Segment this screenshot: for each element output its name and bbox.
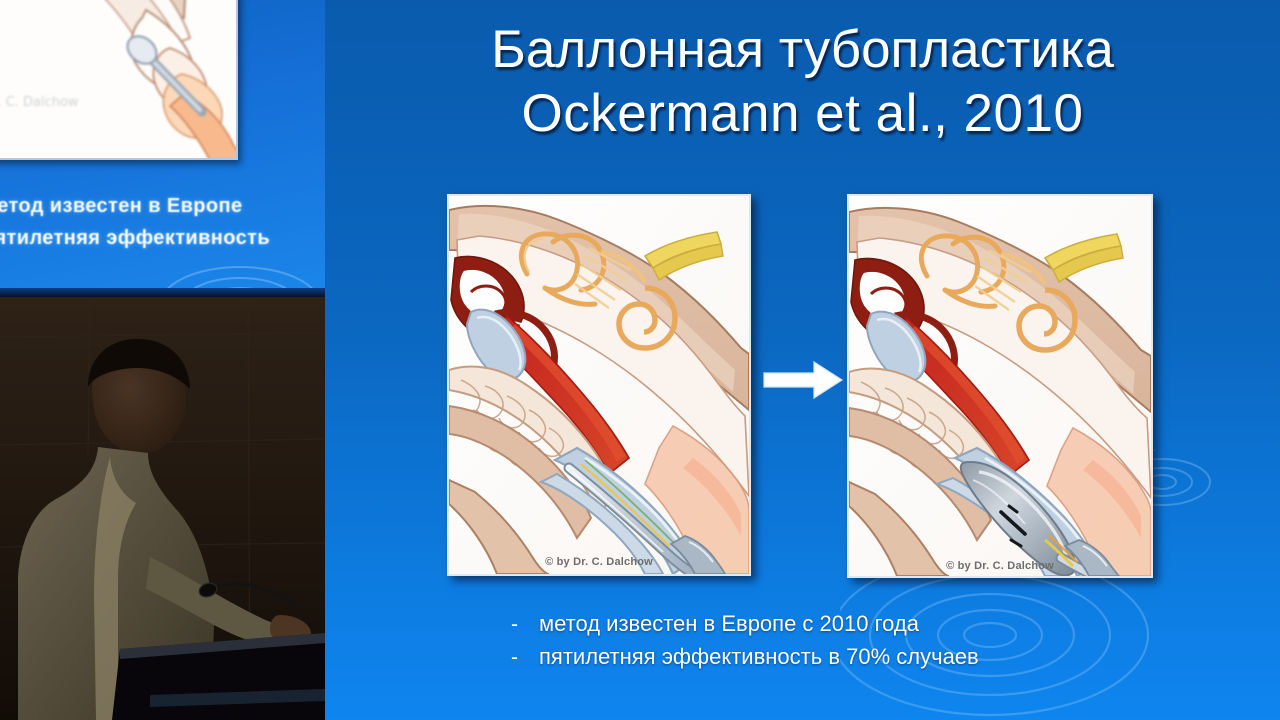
projected-ear-diagram-icon: © by Dr. C. Dalchow bbox=[0, 0, 238, 160]
bullet-dash: - bbox=[511, 642, 539, 674]
projected-figure: © by Dr. C. Dalchow bbox=[0, 0, 238, 160]
slide-canvas: Баллонная тубопластика Ockermann et al.,… bbox=[325, 0, 1280, 720]
title-line-2: Ockermann et al., 2010 bbox=[325, 82, 1280, 146]
projection-screen: © by Dr. C. Dalchow метод известен в Евр… bbox=[0, 0, 325, 297]
bullet-item: - метод известен в Европе с 2010 года bbox=[325, 608, 1280, 641]
presentation-screenshot: © by Dr. C. Dalchow метод известен в Евр… bbox=[0, 0, 1280, 720]
figure-before: © by Dr. C. Dalchow bbox=[447, 194, 751, 576]
figure-before-canvas: © by Dr. C. Dalchow bbox=[449, 196, 749, 574]
figure-group: © by Dr. C. Dalchow bbox=[325, 194, 1280, 578]
figure-after-credit: © by Dr. C. Dalchow bbox=[849, 560, 1151, 572]
right-arrow-icon bbox=[762, 360, 844, 400]
figure-after: © by Dr. C. Dalchow bbox=[847, 194, 1153, 578]
speaker-at-podium-icon bbox=[0, 297, 325, 720]
figure-after-canvas: © by Dr. C. Dalchow bbox=[849, 196, 1151, 576]
conference-video-feed: © by Dr. C. Dalchow метод известен в Евр… bbox=[0, 0, 325, 720]
conference-room bbox=[0, 297, 325, 720]
bullet-text: пятилетняя эффективность в 70% случаев bbox=[539, 641, 979, 673]
bullet-text: метод известен в Европе с 2010 года bbox=[539, 608, 919, 640]
figure-before-credit: © by Dr. C. Dalchow bbox=[449, 556, 749, 568]
screen-bottom-edge bbox=[0, 288, 325, 297]
page-title: Баллонная тубопластика Ockermann et al.,… bbox=[325, 18, 1280, 146]
title-line-1: Баллонная тубопластика bbox=[325, 18, 1280, 82]
bullet-list: - метод известен в Европе с 2010 года - … bbox=[325, 608, 1280, 674]
ear-anatomy-inflated-icon bbox=[849, 196, 1151, 576]
bullet-dash: - bbox=[511, 609, 539, 641]
projected-bullet-1: метод известен в Европе bbox=[0, 190, 325, 222]
bullet-item: - пятилетняя эффективность в 70% случаев bbox=[325, 641, 1280, 674]
svg-text:© by Dr. C. Dalchow: © by Dr. C. Dalchow bbox=[0, 95, 79, 110]
ear-anatomy-deflated-icon bbox=[449, 196, 749, 574]
